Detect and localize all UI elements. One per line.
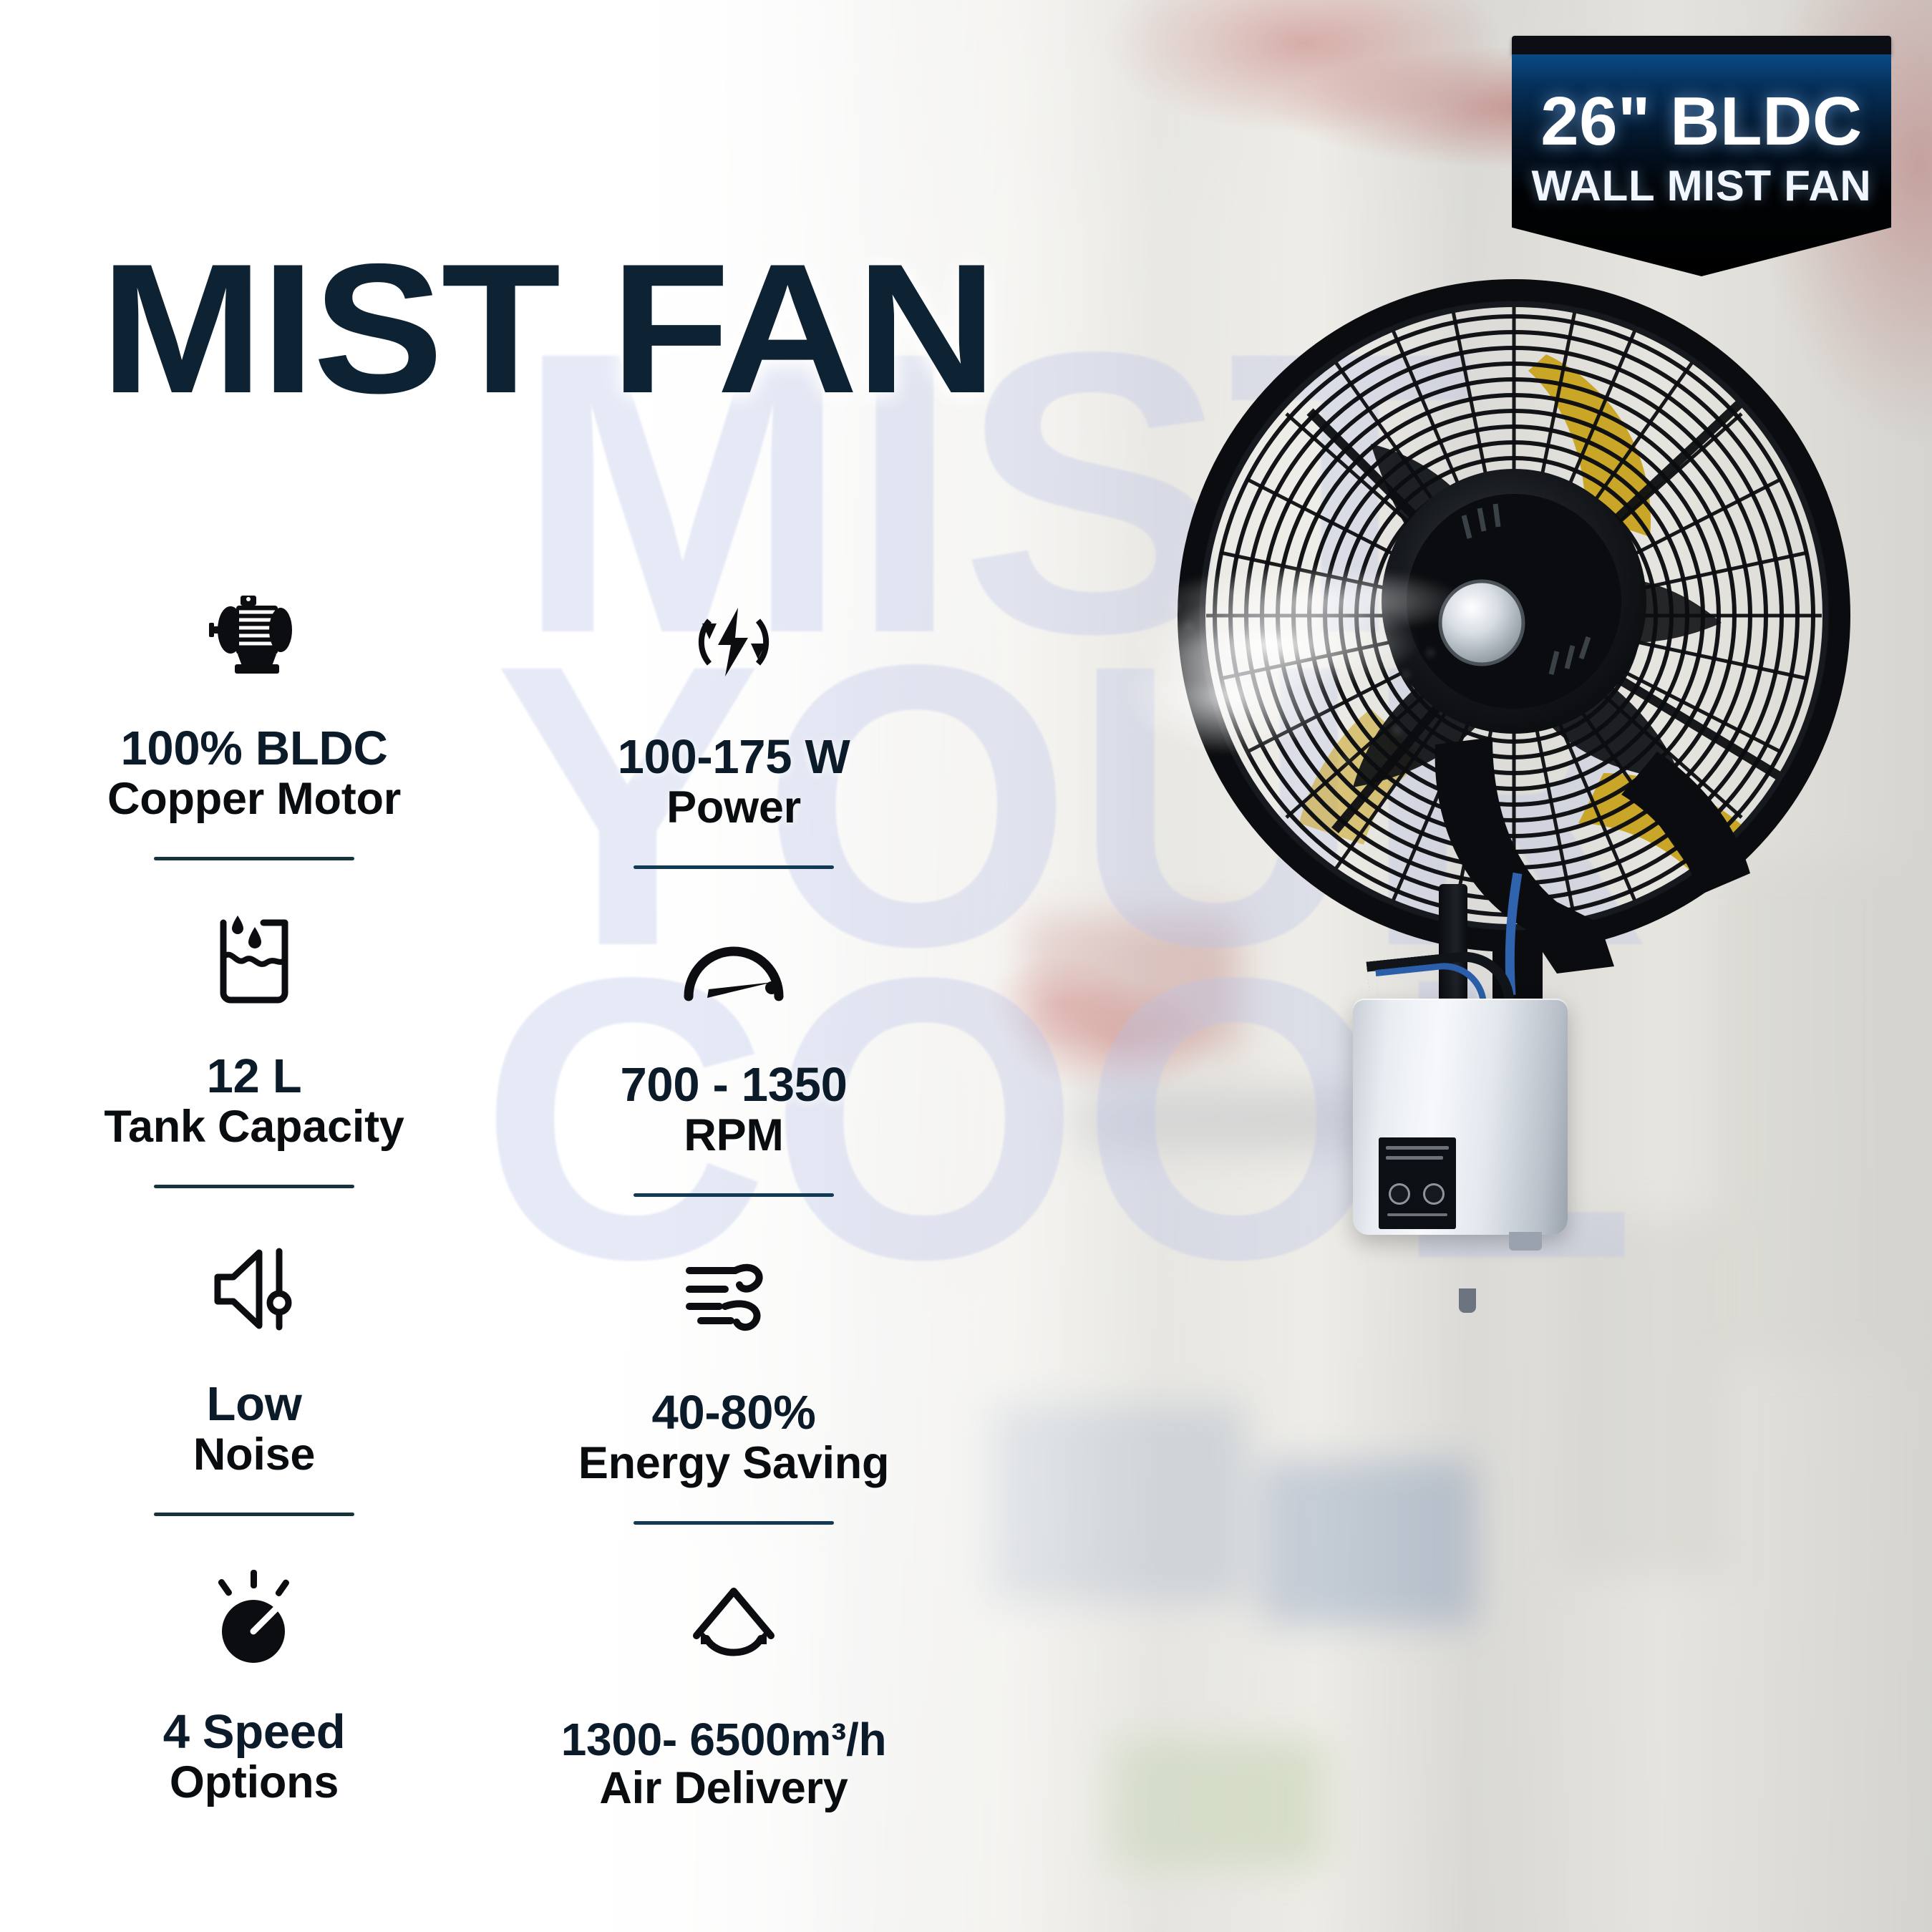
wind-airflow-icon: [544, 1237, 923, 1359]
feature-headline: 1300- 6500m³/h: [524, 1715, 923, 1764]
feature-headline: 40-80%: [544, 1387, 923, 1439]
feature-text: Low Noise: [64, 1379, 444, 1480]
feature-item-tank-capacity: 12 L Tank Capacity: [64, 901, 444, 1188]
water-tank-icon: [64, 901, 444, 1022]
feature-caption: Tank Capacity: [64, 1102, 444, 1152]
feature-column-left: 100% BLDC Copper Motor 12 L Tank Cap: [64, 573, 444, 1807]
feature-divider: [154, 1513, 354, 1516]
feature-grid: 100% BLDC Copper Motor 12 L Tank Cap: [0, 0, 1932, 1932]
feature-item-bldc-motor: 100% BLDC Copper Motor: [64, 573, 444, 860]
feature-item-energy-saving: 40-80% Energy Saving: [544, 1237, 923, 1525]
feature-headline: 100% BLDC: [64, 723, 444, 775]
feature-divider: [634, 865, 834, 869]
feature-divider: [634, 1521, 834, 1525]
feature-column-right: 100-175 W Power 700 - 1350 RPM: [544, 581, 923, 1814]
feature-item-air-delivery: 1300- 6500m³/h Air Delivery: [544, 1565, 923, 1814]
feature-text: 40-80% Energy Saving: [544, 1387, 923, 1488]
electric-motor-icon: [64, 573, 444, 694]
feature-caption: Energy Saving: [544, 1439, 923, 1488]
feature-text: 4 Speed Options: [64, 1707, 444, 1807]
feature-headline: 100-175 W: [544, 732, 923, 783]
feature-headline: 4 Speed: [64, 1707, 444, 1758]
feature-item-power: 100-175 W Power: [544, 581, 923, 869]
feature-caption: Air Delivery: [524, 1764, 923, 1813]
speed-dial-icon: [64, 1556, 444, 1678]
feature-text: 100% BLDC Copper Motor: [64, 723, 444, 824]
feature-divider: [634, 1193, 834, 1197]
feature-caption: Copper Motor: [64, 775, 444, 824]
product-infographic-poster: MIST YOUR COOL: [0, 0, 1932, 1932]
feature-item-speed-options: 4 Speed Options: [64, 1556, 444, 1807]
feature-divider: [154, 1185, 354, 1188]
feature-caption: Power: [544, 783, 923, 832]
feature-headline: 700 - 1350: [544, 1059, 923, 1111]
feature-divider: [154, 857, 354, 860]
oscillation-sweep-icon: [544, 1565, 923, 1686]
feature-caption: Noise: [64, 1430, 444, 1480]
low-volume-speaker-icon: [64, 1228, 444, 1350]
feature-item-low-noise: Low Noise: [64, 1228, 444, 1516]
feature-headline: 12 L: [64, 1051, 444, 1102]
speedometer-gauge-icon: [544, 909, 923, 1031]
power-bolt-cycle-icon: [544, 581, 923, 703]
feature-text: 12 L Tank Capacity: [64, 1051, 444, 1152]
feature-item-rpm: 700 - 1350 RPM: [544, 909, 923, 1197]
feature-caption: RPM: [544, 1111, 923, 1160]
feature-text: 1300- 6500m³/h Air Delivery: [544, 1715, 923, 1814]
feature-headline: Low: [64, 1379, 444, 1430]
feature-text: 100-175 W Power: [544, 732, 923, 832]
feature-caption: Options: [64, 1758, 444, 1807]
feature-text: 700 - 1350 RPM: [544, 1059, 923, 1160]
